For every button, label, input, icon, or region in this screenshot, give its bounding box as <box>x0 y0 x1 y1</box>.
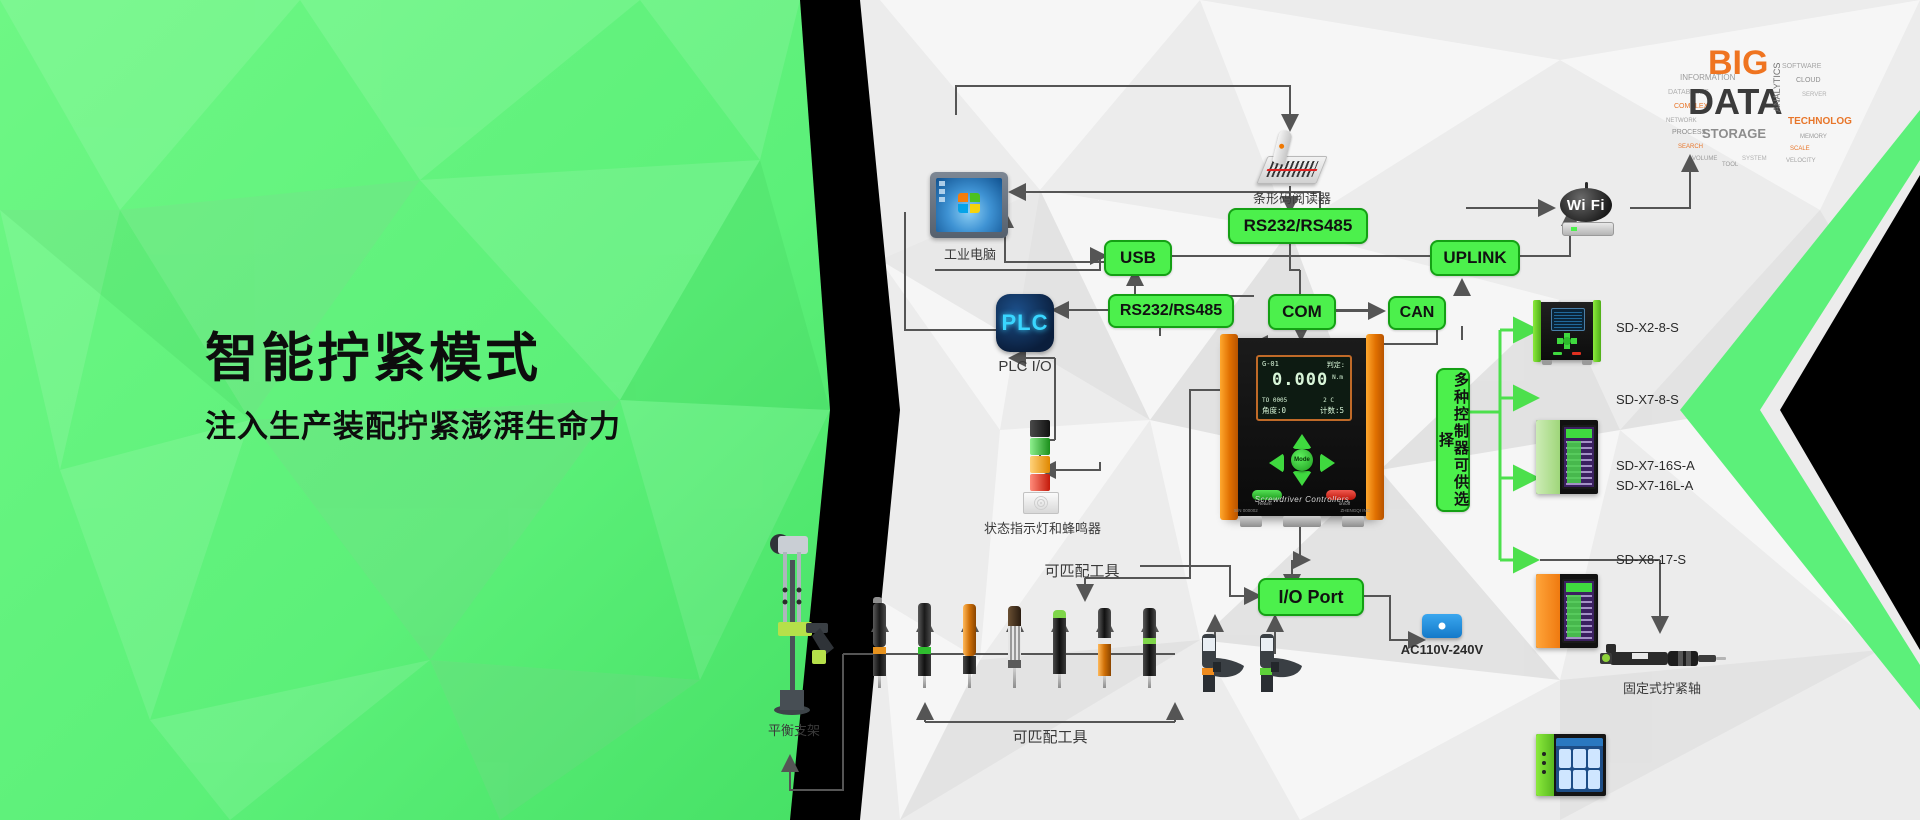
lcd-count: 计数:5 <box>1320 405 1344 416</box>
fixed-spindle-label: 固定式拧紧轴 <box>1582 678 1742 697</box>
tower-light-icon <box>1023 420 1057 512</box>
balance-stand-label: 平衡支架 <box>732 720 856 739</box>
industrial-pc[interactable] <box>930 172 1008 238</box>
power-supply-label: AC110V-240V <box>1380 642 1504 657</box>
svg-text:BIG: BIG <box>1708 44 1768 82</box>
controller-brand: Screwdriver Controllers <box>1226 495 1378 504</box>
model-label-4: SD-X8-17-S <box>1616 552 1686 567</box>
lcd-unit-sub: 2 C <box>1323 397 1334 404</box>
power-brick-icon <box>1422 614 1462 638</box>
lcd-verdict: 判定: <box>1327 360 1345 370</box>
model-sd-x2-8-s[interactable] <box>1536 302 1598 360</box>
svg-text:ANALYTICS: ANALYTICS <box>1772 63 1782 112</box>
barcode-reader[interactable] <box>1258 130 1324 184</box>
fixed-spindle[interactable] <box>1592 640 1728 676</box>
wifi-icon: Wi Fi <box>1556 182 1618 236</box>
controller-serial-left: S/N 000002 <box>1234 508 1258 513</box>
controller-rail-left <box>1220 334 1238 520</box>
chip-rs232-left[interactable]: RS232/RS485 <box>1108 294 1234 328</box>
svg-text:MEMORY: MEMORY <box>1800 134 1827 140</box>
chip-uplink[interactable]: UPLINK <box>1430 240 1520 276</box>
tool-driver-1[interactable] <box>873 597 886 688</box>
controller-serial-right: ZHENGQI INC <box>1340 508 1370 513</box>
lcd-value: 0.000 <box>1272 370 1328 390</box>
plc-io-device[interactable]: PLC <box>996 294 1054 352</box>
dpad-down-button[interactable] <box>1292 471 1312 486</box>
chip-multi-controller[interactable]: 多种控制器可供选择 <box>1436 368 1470 512</box>
barcode-scanner-icon <box>1258 130 1324 184</box>
compatible-tools-top-label: 可匹配工具 <box>1012 560 1152 581</box>
system-diagram: 工业电脑 条形码阅读器 Wi Fi INFORMATION DATABASES … <box>0 0 1920 820</box>
chip-can[interactable]: CAN <box>1388 296 1446 330</box>
diagram-connectors <box>0 0 1920 820</box>
dpad-up-button[interactable] <box>1292 434 1312 449</box>
model-label-2: SD-X7-16S-A <box>1616 458 1695 473</box>
svg-text:CLOUD: CLOUD <box>1796 77 1821 84</box>
balance-stand[interactable] <box>750 530 842 720</box>
svg-text:STORAGE: STORAGE <box>1702 126 1766 141</box>
model-sd-x7-8-s[interactable] <box>1536 420 1598 494</box>
industrial-pc-label: 工业电脑 <box>905 244 1035 263</box>
dpad-left-button[interactable] <box>1269 453 1284 473</box>
power-supply[interactable] <box>1422 614 1462 638</box>
svg-text:SOFTWARE: SOFTWARE <box>1782 63 1822 70</box>
model-sd-x8-17-s[interactable] <box>1536 734 1606 796</box>
model-label-3: SD-X7-16L-A <box>1616 478 1693 493</box>
wifi-label: Wi Fi <box>1567 197 1605 214</box>
lcd-program: G-01 <box>1262 360 1279 368</box>
plc-icon: PLC <box>996 294 1054 352</box>
svg-text:TECHNOLOGIES: TECHNOLOGIES <box>1788 116 1852 127</box>
tool-driver-5[interactable] <box>1053 610 1066 688</box>
svg-text:SERVER: SERVER <box>1802 92 1827 98</box>
model-sd-x7-16-a[interactable] <box>1536 574 1598 648</box>
compatible-tools-bottom-label: 可匹配工具 <box>980 726 1120 747</box>
svg-text:VOLUME: VOLUME <box>1692 156 1717 162</box>
banner-stage: 智能拧紧模式 注入生产装配拧紧澎湃生命力 <box>0 0 1920 820</box>
svg-text:VELOCITY: VELOCITY <box>1786 158 1816 164</box>
chip-usb[interactable]: USB <box>1104 240 1172 276</box>
status-tower-light[interactable] <box>1023 420 1057 512</box>
barcode-reader-label: 条形码阅读器 <box>1222 188 1362 207</box>
model-label-0: SD-X2-8-S <box>1616 320 1679 335</box>
svg-text:TOOL: TOOL <box>1722 162 1739 168</box>
dpad-mode-button[interactable]: Mode <box>1291 449 1313 471</box>
controller-lcd-screen: G-01 判定: 0.000 N.m TO 0005 2 C 角度:0 计数:5 <box>1256 355 1352 421</box>
big-data-wordcloud: INFORMATION DATABASES COMPLEX NETWORK PR… <box>1662 38 1852 173</box>
main-screwdriver-controller[interactable]: G-01 判定: 0.000 N.m TO 0005 2 C 角度:0 计数:5… <box>1226 338 1378 516</box>
controller-rail-right <box>1366 334 1384 520</box>
tool-pistol-1[interactable] <box>1194 632 1246 694</box>
lcd-angle: 角度:0 <box>1262 405 1286 416</box>
tool-driver-3[interactable] <box>963 604 976 688</box>
tool-driver-6[interactable] <box>1098 608 1111 688</box>
wifi-router[interactable]: Wi Fi <box>1556 182 1618 236</box>
tool-driver-2[interactable] <box>918 603 931 688</box>
controller-dpad[interactable]: Mode <box>1269 434 1335 486</box>
lcd-torque-set: TO 0005 <box>1262 397 1287 404</box>
svg-text:SCALE: SCALE <box>1790 146 1810 152</box>
chip-rs232-right[interactable]: RS232/RS485 <box>1228 208 1368 244</box>
svg-text:DATA: DATA <box>1688 81 1783 122</box>
svg-text:SYSTEM: SYSTEM <box>1742 156 1767 162</box>
controller-ports <box>1226 516 1378 527</box>
dpad-right-button[interactable] <box>1320 453 1335 473</box>
tool-driver-4[interactable] <box>1008 606 1021 688</box>
chip-com[interactable]: COM <box>1268 294 1336 330</box>
model-label-1: SD-X7-8-S <box>1616 392 1679 407</box>
tool-pistol-2[interactable] <box>1252 632 1304 694</box>
svg-text:SEARCH: SEARCH <box>1678 144 1703 150</box>
lcd-unit: N.m <box>1332 374 1343 381</box>
plc-tile-text: PLC <box>1002 310 1049 336</box>
plc-io-label: PLC I/O <box>965 358 1085 375</box>
tool-driver-7[interactable] <box>1143 608 1156 688</box>
status-light-label: 状态指示灯和蜂鸣器 <box>960 518 1125 537</box>
monitor-icon <box>930 172 1008 238</box>
compatible-tools-row <box>900 598 1300 684</box>
